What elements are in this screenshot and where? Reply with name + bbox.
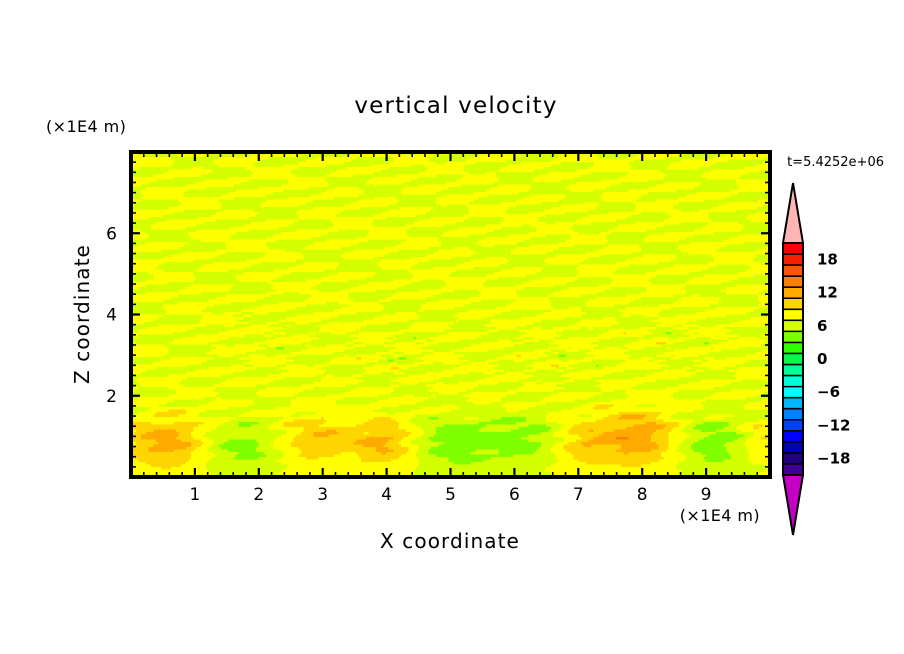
x-unit-label: (×1E4 m) (680, 506, 760, 525)
colorbar-tick-label: −18 (817, 449, 850, 467)
colorbar-tick-label: −6 (817, 383, 840, 401)
colorbar-band[interactable] (783, 320, 803, 331)
colorbar-tick-label: 12 (817, 284, 838, 302)
colorbar-band[interactable] (783, 287, 803, 298)
x-tick-label: 6 (509, 485, 520, 505)
x-tick-label: 8 (637, 485, 648, 505)
colorbar-band[interactable] (783, 409, 803, 420)
colorbar-band[interactable] (783, 431, 803, 442)
colorbar-band[interactable] (783, 243, 803, 254)
colorbar-tick-label: 6 (817, 317, 827, 335)
x-tick-label: 7 (573, 485, 584, 505)
colorbar-band[interactable] (783, 387, 803, 398)
x-tick-label: 3 (317, 485, 328, 505)
y-unit-label: (×1E4 m) (46, 117, 126, 136)
vertical-velocity-contour-figure: vertical velocity (×1E4 m) t=5.4252e+06 … (0, 0, 904, 654)
colorbar-band[interactable] (783, 453, 803, 464)
y-tick-label: 2 (106, 387, 117, 407)
colorbar-band[interactable] (783, 309, 803, 320)
page-title: vertical velocity (354, 93, 557, 119)
y-tick-label: 6 (106, 224, 117, 244)
x-tick-label: 9 (701, 485, 712, 505)
y-tick-label: 4 (106, 306, 117, 326)
colorbar-band[interactable] (783, 353, 803, 364)
y-axis-title: Z coordinate (70, 244, 94, 384)
x-tick-label: 5 (445, 485, 456, 505)
colorbar-band[interactable] (783, 442, 803, 453)
contour-field (131, 152, 772, 478)
colorbar-tick-label: 18 (817, 251, 838, 269)
colorbar-band[interactable] (783, 298, 803, 309)
x-tick-label: 4 (381, 485, 392, 505)
x-tick-label: 2 (253, 485, 264, 505)
x-axis-title: X coordinate (380, 529, 520, 553)
colorbar-tick-label: 0 (817, 350, 827, 368)
colorbar-tick-label: −12 (817, 416, 850, 434)
time-annotation: t=5.4252e+06 (787, 155, 884, 170)
colorbar-band[interactable] (783, 276, 803, 287)
colorbar-band[interactable] (783, 342, 803, 353)
colorbar-band[interactable] (783, 420, 803, 431)
colorbar-band[interactable] (783, 254, 803, 265)
x-tick-label: 1 (189, 485, 200, 505)
colorbar-band[interactable] (783, 376, 803, 387)
colorbar-band[interactable] (783, 331, 803, 342)
colorbar-band[interactable] (783, 464, 803, 475)
colorbar-band[interactable] (783, 265, 803, 276)
colorbar-band[interactable] (783, 398, 803, 409)
colorbar-band[interactable] (783, 365, 803, 376)
